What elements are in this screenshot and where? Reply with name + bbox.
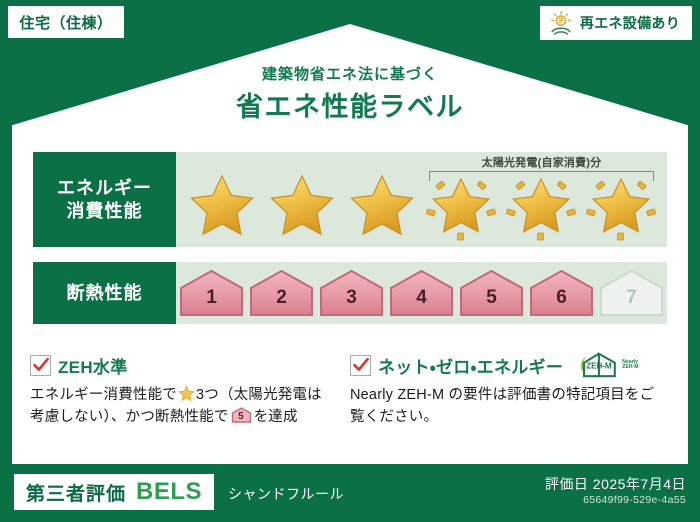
star-icon-solar: [424, 169, 498, 243]
insulation-level-house: 5: [458, 268, 525, 318]
insulation-level-number: 6: [528, 287, 595, 309]
bels-energy-label: 住宅（住棟） 再エネ設備あり 建築物省エネ法に基づく 省エネ性能ラベル: [0, 0, 700, 522]
bels-jp-label: 第三者評価: [26, 479, 126, 506]
zeh-m-caption-2: ZEH-M: [622, 365, 638, 370]
insulation-performance-value: 1 2 3 4 5: [176, 262, 667, 324]
evaluation-id: 65649f99-529e-4a55: [583, 494, 686, 506]
insulation-performance-label: 断熱性能: [33, 262, 176, 324]
insulation-level-house: 3: [318, 268, 385, 318]
net-zero-energy-block: ネット・ゼロ・エネルギー ZEH-M Nearly ZEH-M Nearly Z…: [350, 352, 670, 452]
net-zero-description: Nearly ZEH-M の要件は評価書の特記項目をご覧ください。: [350, 384, 656, 429]
insulation-level-house: 4: [388, 268, 455, 318]
insulation-level-number: 1: [178, 287, 245, 309]
page-title: 省エネ性能ラベル: [0, 85, 700, 124]
insulation-level-number: 7: [598, 287, 665, 309]
zeh-standard-title: ZEH水準: [58, 353, 128, 378]
star-icon-solar: [504, 169, 578, 243]
insulation-level-house: 2: [248, 268, 315, 318]
energy-performance-label: エネルギー 消費性能: [33, 152, 176, 247]
insulation-level-number: 3: [318, 287, 385, 309]
property-name: シャンドフルール: [228, 484, 344, 504]
insulation-performance-row: 断熱性能 1 2 3 4: [33, 262, 667, 324]
star-icon: [345, 169, 419, 243]
insulation-level-number: 5: [458, 287, 525, 309]
zeh-m-logo: ZEH-M Nearly ZEH-M: [576, 351, 638, 379]
zeh-star-count: 3つ: [196, 387, 219, 403]
bels-certification-mark: 第三者評価 BELS: [14, 474, 214, 510]
insulation-level-number: 2: [248, 287, 315, 309]
building-type-tag: 住宅（住棟）: [8, 6, 124, 38]
inline-house-icon: 5: [231, 407, 252, 423]
insulation-level-scale: 1 2 3 4 5: [176, 262, 667, 324]
energy-performance-value: 太陽光発電(自家消費)分: [176, 152, 667, 247]
renewable-equipment-badge: 再エネ設備あり: [540, 6, 692, 40]
star-icon-solar: [584, 169, 658, 243]
star-icon: [185, 169, 259, 243]
inline-house-number: 5: [231, 409, 252, 425]
nze-checkbox[interactable]: [350, 355, 371, 376]
inline-star-icon: [178, 385, 195, 402]
label-subtitle: 建築物省エネ法に基づく: [0, 63, 700, 84]
zeh-standard-description: エネルギー消費性能で3つ（太陽光発電は考慮しない）、かつ断熱性能で5を達成: [30, 384, 336, 429]
energy-label-line2: 消費性能: [67, 200, 143, 223]
insulation-level-house: 6: [528, 268, 595, 318]
zeh-text-1: エネルギー消費性能で: [30, 387, 177, 403]
net-zero-header: ネット・ゼロ・エネルギー ZEH-M Nearly ZEH-M: [350, 352, 656, 378]
star-icon: [265, 169, 339, 243]
zeh-standard-header: ZEH水準: [30, 352, 336, 378]
energy-performance-row: エネルギー 消費性能 太陽光発電(自家消費)分: [33, 152, 667, 247]
svg-text:ZEH-M: ZEH-M: [586, 362, 612, 371]
label-footer: 第三者評価 BELS シャンドフルール 評価日 2025年7月4日 65649f…: [0, 464, 700, 522]
zeh-standard-block: ZEH水準 エネルギー消費性能で3つ（太陽光発電は考慮しない）、かつ断熱性能で5…: [30, 352, 350, 452]
renewable-badge-label: 再エネ設備あり: [580, 13, 680, 33]
insulation-level-number: 4: [388, 287, 455, 309]
star-rating: [176, 167, 667, 245]
sun-solar-icon: [548, 10, 574, 36]
bels-en-label: BELS: [136, 478, 202, 506]
zeh-checkbox[interactable]: [30, 355, 51, 376]
zeh-text-3: を達成: [254, 409, 298, 425]
insulation-level-house: 1: [178, 268, 245, 318]
energy-label-line1: エネルギー: [57, 177, 152, 200]
net-zero-title: ネット・ゼロ・エネルギー: [378, 353, 563, 378]
criteria-columns: ZEH水準 エネルギー消費性能で3つ（太陽光発電は考慮しない）、かつ断熱性能で5…: [30, 352, 670, 452]
evaluation-date: 評価日 2025年7月4日: [545, 474, 686, 494]
insulation-level-house-inactive: 7: [598, 268, 665, 318]
